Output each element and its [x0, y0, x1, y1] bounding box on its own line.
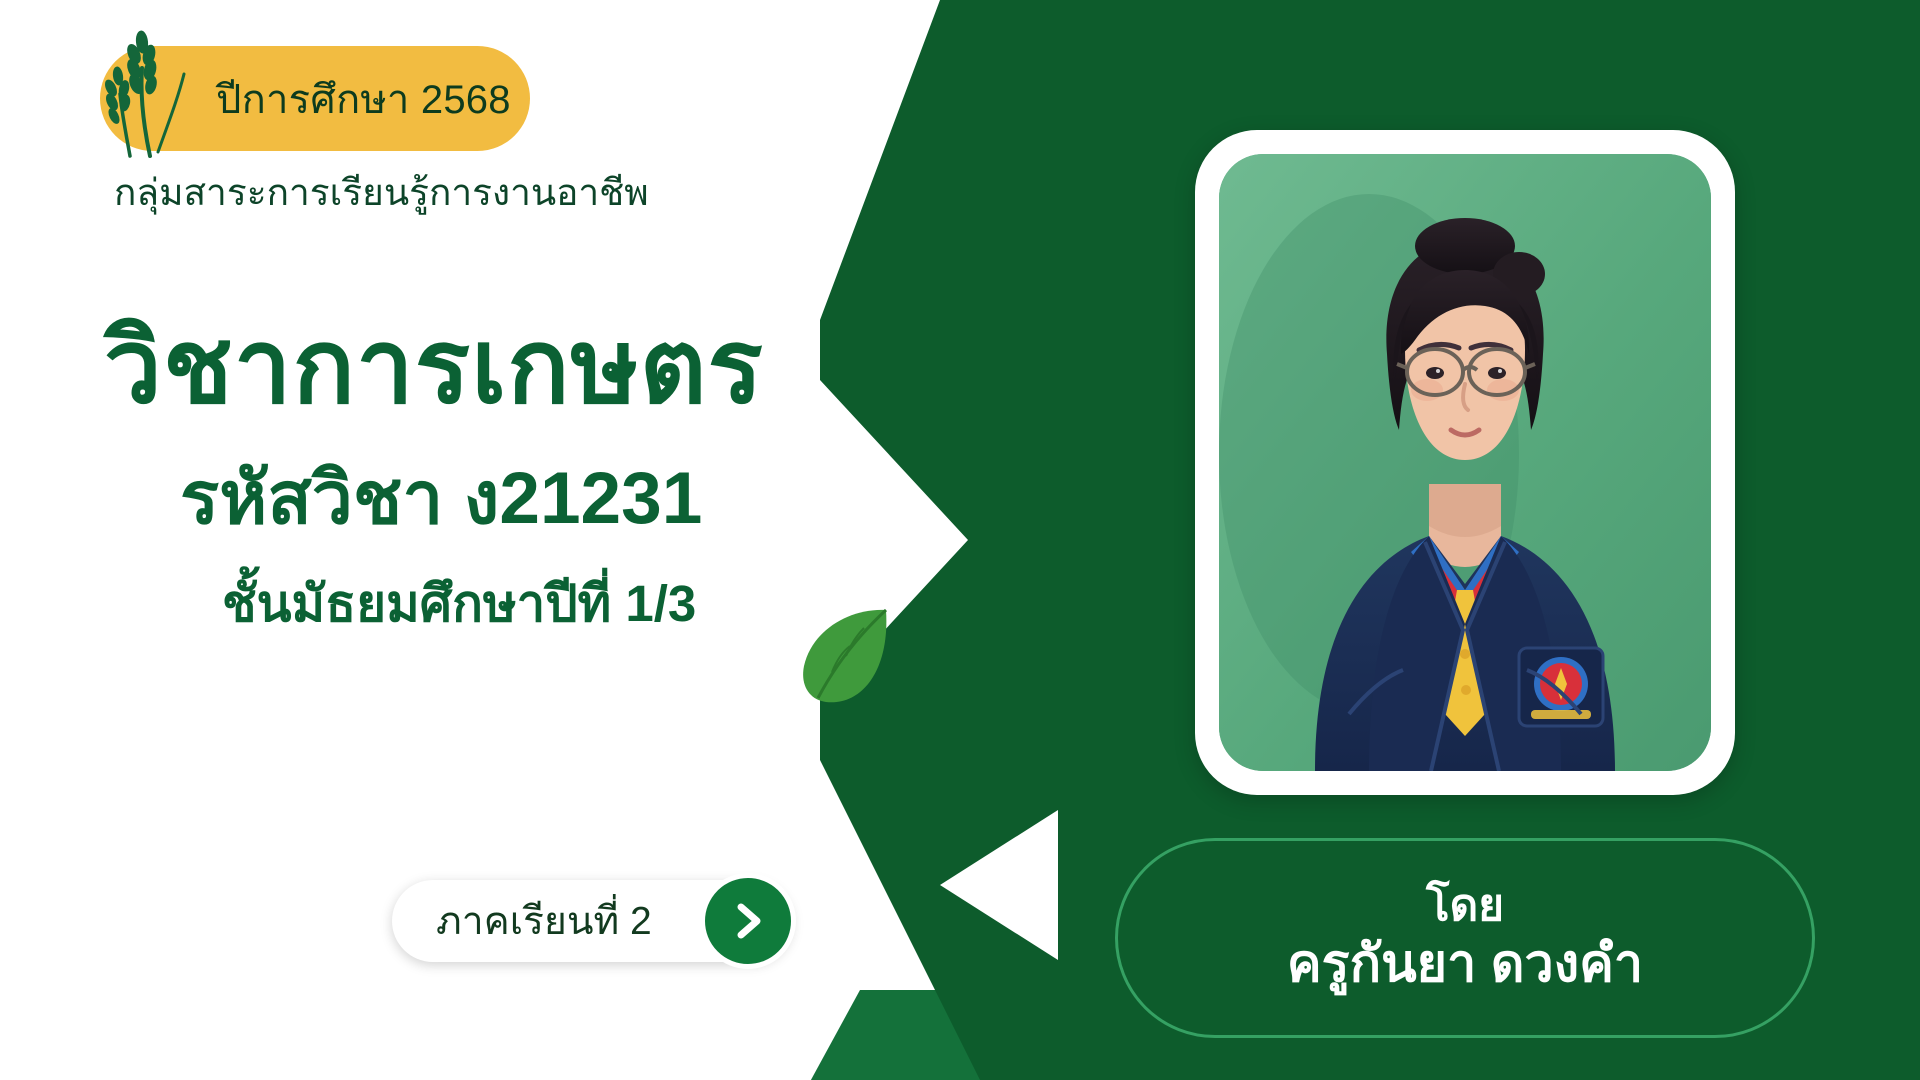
- term-button[interactable]: ภาคเรียนที่ 2: [392, 880, 792, 962]
- teacher-by-label: โดย: [1426, 881, 1504, 932]
- subject-group-label: กลุ่มสาระการเรียนรู้การงานอาชีพ: [114, 163, 649, 222]
- leaf-icon: [790, 600, 900, 710]
- academic-year-label: ปีการศึกษา 2568: [216, 67, 511, 131]
- teacher-portrait-image: [1219, 154, 1711, 771]
- wheat-icon: [92, 28, 192, 163]
- term-label: ภาคเรียนที่ 2: [436, 890, 652, 952]
- teacher-name-label: ครูกันยา ดวงคำ: [1287, 935, 1643, 995]
- slide-canvas: ปีการศึกษา 2568: [0, 0, 1920, 1080]
- teacher-credit-box: โดย ครูกันยา ดวงคำ: [1115, 838, 1815, 1038]
- course-code-label: รหัสวิชา ง21231: [180, 440, 702, 556]
- left-content-area: ปีการศึกษา 2568: [0, 0, 840, 1080]
- teacher-portrait-frame: [1195, 130, 1735, 795]
- chevron-right-icon[interactable]: [700, 873, 796, 969]
- grade-level-label: ชั้นมัธยมศึกษาปีที่ 1/3: [222, 563, 696, 644]
- page-title: วิชาการเกษตร: [104, 285, 764, 448]
